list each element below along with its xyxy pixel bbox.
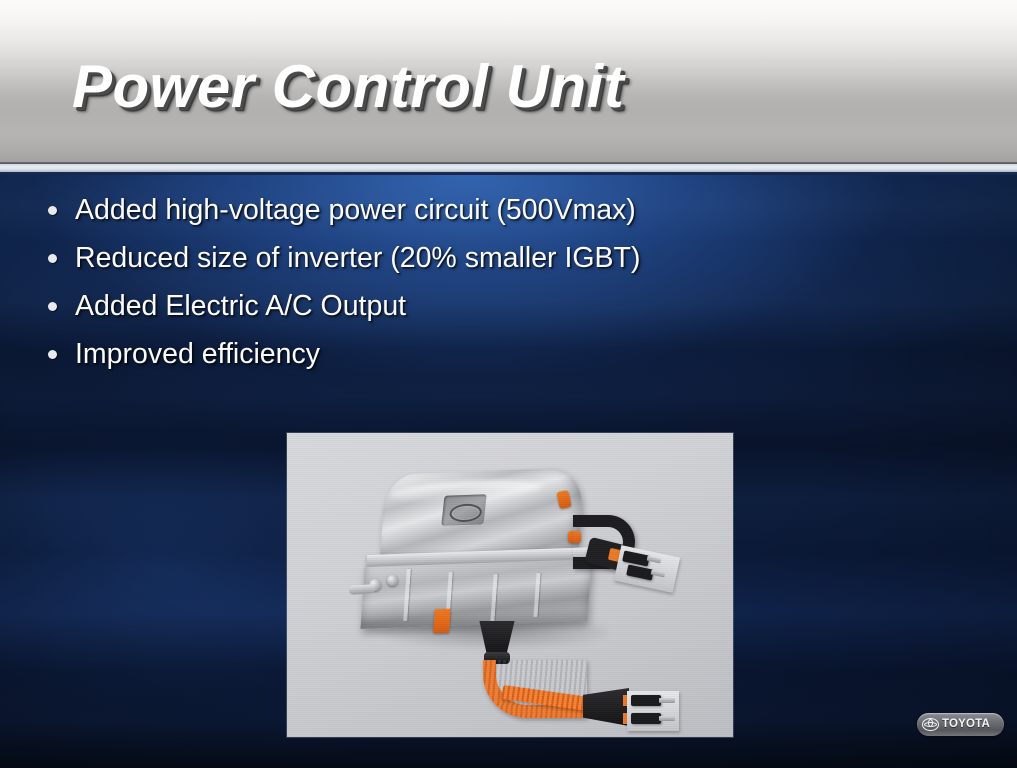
coolant-nozzle bbox=[349, 584, 376, 595]
presentation-slide: Power Control Unit Added high-voltage po… bbox=[0, 0, 1017, 768]
mounting-boss bbox=[387, 575, 398, 586]
toyota-wordmark: TOYOTA bbox=[942, 719, 990, 731]
embossed-toyota-emblem-icon bbox=[441, 494, 486, 525]
toyota-emblem-icon bbox=[922, 718, 939, 731]
page-title: Power Control Unit bbox=[72, 52, 624, 121]
orange-hv-clip bbox=[433, 609, 451, 634]
connector-pin bbox=[631, 713, 661, 724]
bullet-dot-icon bbox=[30, 192, 75, 228]
connector-pin-tip bbox=[659, 716, 675, 721]
bullet-text: Improved efficiency bbox=[75, 336, 320, 372]
bullet-dot-icon bbox=[30, 336, 75, 372]
bullet-dot-icon bbox=[30, 288, 75, 324]
list-item: Improved efficiency bbox=[30, 336, 890, 384]
connector-pin bbox=[631, 695, 661, 706]
header-divider-silver bbox=[0, 164, 1017, 172]
header-divider-navy bbox=[0, 172, 1017, 175]
power-control-unit-photo bbox=[287, 433, 733, 737]
bullet-text: Added Electric A/C Output bbox=[75, 288, 406, 324]
photo-content bbox=[287, 433, 733, 737]
list-item: Added high-voltage power circuit (500Vma… bbox=[30, 192, 890, 240]
list-item: Reduced size of inverter (20% smaller IG… bbox=[30, 240, 890, 288]
bullet-dot-icon bbox=[30, 240, 75, 276]
toyota-logo-badge: TOYOTA bbox=[917, 713, 1004, 736]
inverter-casting-base bbox=[360, 559, 591, 629]
bullet-text: Added high-voltage power circuit (500Vma… bbox=[75, 192, 636, 228]
connector-pin-tip bbox=[659, 698, 675, 703]
bullet-list: Added high-voltage power circuit (500Vma… bbox=[30, 192, 890, 384]
list-item: Added Electric A/C Output bbox=[30, 288, 890, 336]
bullet-text: Reduced size of inverter (20% smaller IG… bbox=[75, 240, 640, 276]
